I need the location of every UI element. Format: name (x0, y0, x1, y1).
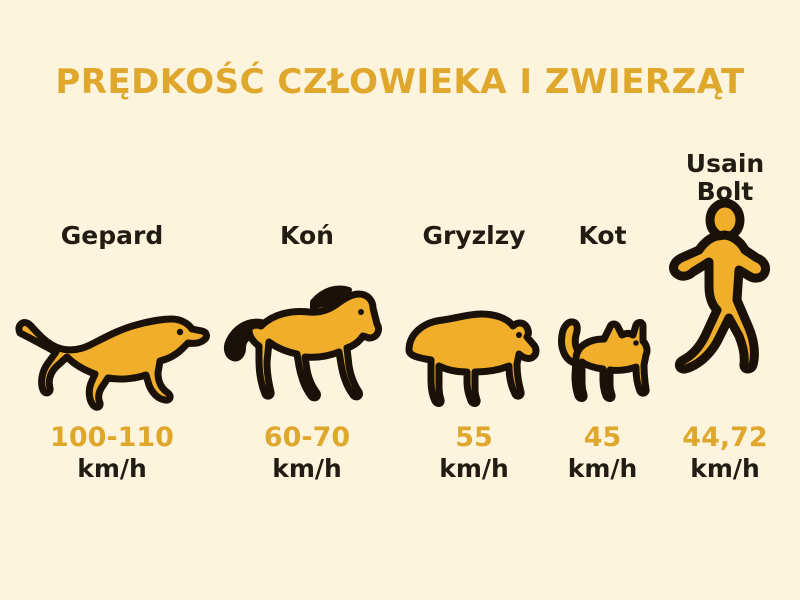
cat-icon (540, 265, 665, 405)
stat-unit-kot: km/h (540, 454, 665, 484)
runner-icon (650, 200, 800, 375)
stat-unit-usain-bolt: km/h (650, 454, 800, 484)
stat-kon: 60-70 km/h (212, 422, 402, 483)
entry-gepard: Gepard 100-110 km/h (2, 140, 222, 540)
entry-label-gryzlzy: Gryzlzy (394, 222, 554, 250)
page-title: PRĘDKOŚĆ CZŁOWIEKA I ZWIERZĄT (0, 62, 800, 102)
bear-icon (394, 265, 554, 405)
stat-value-usain-bolt: 44,72 (650, 422, 800, 454)
stat-value-gepard: 100-110 (2, 422, 222, 454)
entry-usain-bolt: Usain Bolt 44,72 km/h (650, 140, 800, 540)
entry-label-usain-bolt: Usain Bolt (650, 150, 800, 206)
stat-value-kot: 45 (540, 422, 665, 454)
entry-label-kon: Koń (212, 222, 402, 250)
stat-value-kon: 60-70 (212, 422, 402, 454)
stat-usain-bolt: 44,72 km/h (650, 422, 800, 483)
entry-label-kot: Kot (540, 222, 665, 250)
entry-kon: Koń 60-70 km/h (212, 140, 402, 540)
stat-gepard: 100-110 km/h (2, 422, 222, 483)
entry-gryzlzy: Gryzlzy 55 km/h (394, 140, 554, 540)
cheetah-icon (2, 265, 222, 405)
stat-unit-gryzlzy: km/h (394, 454, 554, 484)
stat-unit-gepard: km/h (2, 454, 222, 484)
stat-gryzlzy: 55 km/h (394, 422, 554, 483)
stat-value-gryzlzy: 55 (394, 422, 554, 454)
stat-kot: 45 km/h (540, 422, 665, 483)
stat-unit-kon: km/h (212, 454, 402, 484)
entry-label-gepard: Gepard (2, 222, 222, 250)
entry-label-line1: Usain (686, 149, 764, 178)
entries-row: Gepard 100-110 km/h Koń (0, 140, 800, 540)
entry-kot: Kot 45 km/h (540, 140, 665, 540)
infographic-root: PRĘDKOŚĆ CZŁOWIEKA I ZWIERZĄT Gepard 100… (0, 0, 800, 600)
horse-icon (212, 265, 402, 405)
